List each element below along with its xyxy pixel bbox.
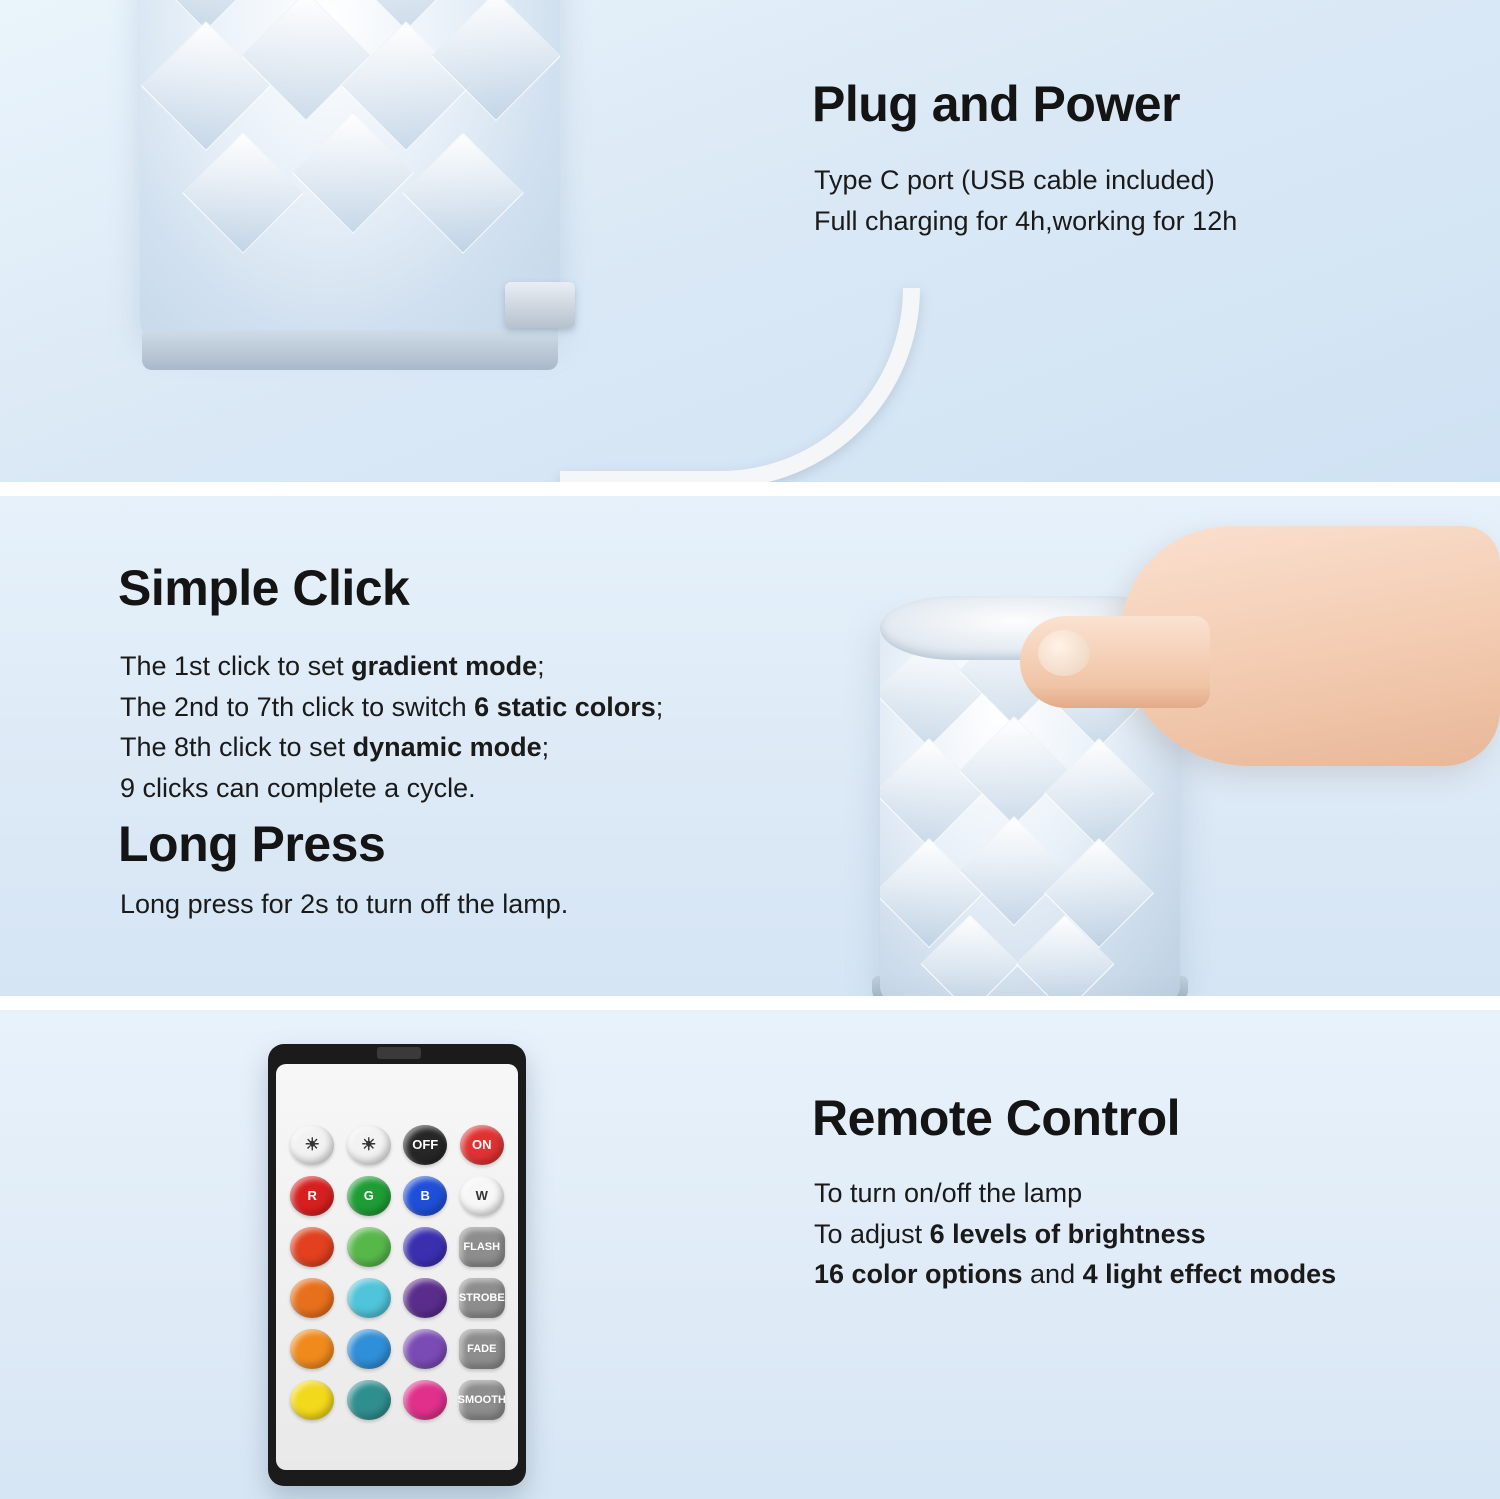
lamp-facet-pattern <box>140 0 560 340</box>
white-button-icon[interactable]: W <box>460 1176 504 1216</box>
panel-2-title: Simple Click <box>118 562 409 615</box>
panel-2-line-3: The 8th click to set dynamic mode; <box>120 727 663 768</box>
color-light-green-icon[interactable] <box>347 1227 391 1267</box>
panel-3-body: To turn on/off the lamp To adjust 6 leve… <box>814 1173 1336 1295</box>
color-sky-blue-icon[interactable] <box>347 1329 391 1369</box>
brightness-down-icon-glyph: ☀ <box>361 1135 376 1155</box>
color-teal-icon[interactable] <box>347 1380 391 1420</box>
color-pink-icon[interactable] <box>403 1380 447 1420</box>
panel-2-body: The 1st click to set gradient mode; The … <box>120 646 663 808</box>
line-2-post: ; <box>656 692 664 722</box>
panel-1-title: Plug and Power <box>812 78 1180 131</box>
brightness-down-icon[interactable]: ☀ <box>347 1125 391 1165</box>
strobe-mode-icon[interactable]: STROBE <box>459 1278 505 1318</box>
color-amber-icon[interactable] <box>290 1329 334 1369</box>
panel-3-line-3: 16 color options and 4 light effect mode… <box>814 1254 1336 1295</box>
panel-simple-click: Simple Click The 1st click to set gradie… <box>0 496 1500 996</box>
panel-1-line-2: Full charging for 4h,working for 12h <box>814 201 1237 242</box>
color-indigo-icon[interactable] <box>403 1227 447 1267</box>
line-4-pre: 9 clicks can complete a cycle. <box>120 773 476 803</box>
line-2-pre: The 2nd to 7th click to switch <box>120 692 474 722</box>
brightness-up-icon-glyph: ☀ <box>305 1135 320 1155</box>
color-yellow-icon[interactable] <box>290 1380 334 1420</box>
panel-2-line-4: 9 clicks can complete a cycle. <box>120 768 663 809</box>
remote-button-grid[interactable]: ☀☀OFFONRGBWFLASHSTROBEFADESMOOTH <box>286 1122 508 1422</box>
panel-2-line-2: The 2nd to 7th click to switch 6 static … <box>120 687 663 728</box>
p3-line-3-bold-1: 16 color options <box>814 1259 1023 1289</box>
color-orange-red-icon[interactable] <box>290 1227 334 1267</box>
lamp-base <box>142 330 558 370</box>
color-cyan-icon[interactable] <box>347 1278 391 1318</box>
blue-button-icon[interactable]: B <box>403 1176 447 1216</box>
ir-emitter-icon <box>377 1047 421 1059</box>
p3-line-3-bold-2: 4 light effect modes <box>1083 1259 1337 1289</box>
panel-3-line-1: To turn on/off the lamp <box>814 1173 1336 1214</box>
power-off-icon[interactable]: OFF <box>403 1125 447 1165</box>
p3-line-3-mid: and <box>1023 1259 1083 1289</box>
panel-divider-2 <box>0 996 1500 1010</box>
green-button-icon[interactable]: G <box>347 1176 391 1216</box>
panel-1-body: Type C port (USB cable included) Full ch… <box>814 160 1237 241</box>
flash-mode-icon[interactable]: FLASH <box>459 1227 505 1267</box>
usb-cable <box>560 288 920 482</box>
p3-line-2-bold: 6 levels of brightness <box>930 1219 1206 1249</box>
product-feature-infographic: Plug and Power Type C port (USB cable in… <box>0 0 1500 1499</box>
panel-2-body-2: Long press for 2s to turn off the lamp. <box>120 884 568 925</box>
panel-1-line-1: Type C port (USB cable included) <box>814 160 1237 201</box>
panel-2-line-1: The 1st click to set gradient mode; <box>120 646 663 687</box>
line-1-bold: gradient mode <box>351 651 537 681</box>
color-violet-icon[interactable] <box>403 1329 447 1369</box>
panel-2-title-2: Long Press <box>118 818 385 871</box>
panel-3-title: Remote Control <box>812 1092 1180 1145</box>
fade-mode-icon[interactable]: FADE <box>459 1329 505 1369</box>
panel-divider-1 <box>0 482 1500 496</box>
p3-line-2-pre: To adjust <box>814 1219 930 1249</box>
line-3-pre: The 8th click to set <box>120 732 353 762</box>
line-2-bold: 6 static colors <box>474 692 656 722</box>
color-orange-icon[interactable] <box>290 1278 334 1318</box>
panel-2b-line-1: Long press for 2s to turn off the lamp. <box>120 884 568 925</box>
panel-plug-and-power: Plug and Power Type C port (USB cable in… <box>0 0 1500 482</box>
fingernail <box>1038 630 1090 676</box>
p3-line-1-pre: To turn on/off the lamp <box>814 1178 1082 1208</box>
line-3-bold: dynamic mode <box>353 732 542 762</box>
panel-3-line-2: To adjust 6 levels of brightness <box>814 1214 1336 1255</box>
line-3-post: ; <box>542 732 550 762</box>
line-1-post: ; <box>537 651 545 681</box>
red-button-icon[interactable]: R <box>290 1176 334 1216</box>
power-on-icon[interactable]: ON <box>460 1125 504 1165</box>
color-purple-icon[interactable] <box>403 1278 447 1318</box>
line-1-pre: The 1st click to set <box>120 651 351 681</box>
brightness-up-icon[interactable]: ☀ <box>290 1125 334 1165</box>
smooth-mode-icon[interactable]: SMOOTH <box>459 1380 505 1420</box>
crystal-lamp-image <box>140 0 560 340</box>
panel-remote-control: Remote Control To turn on/off the lamp T… <box>0 1010 1500 1499</box>
